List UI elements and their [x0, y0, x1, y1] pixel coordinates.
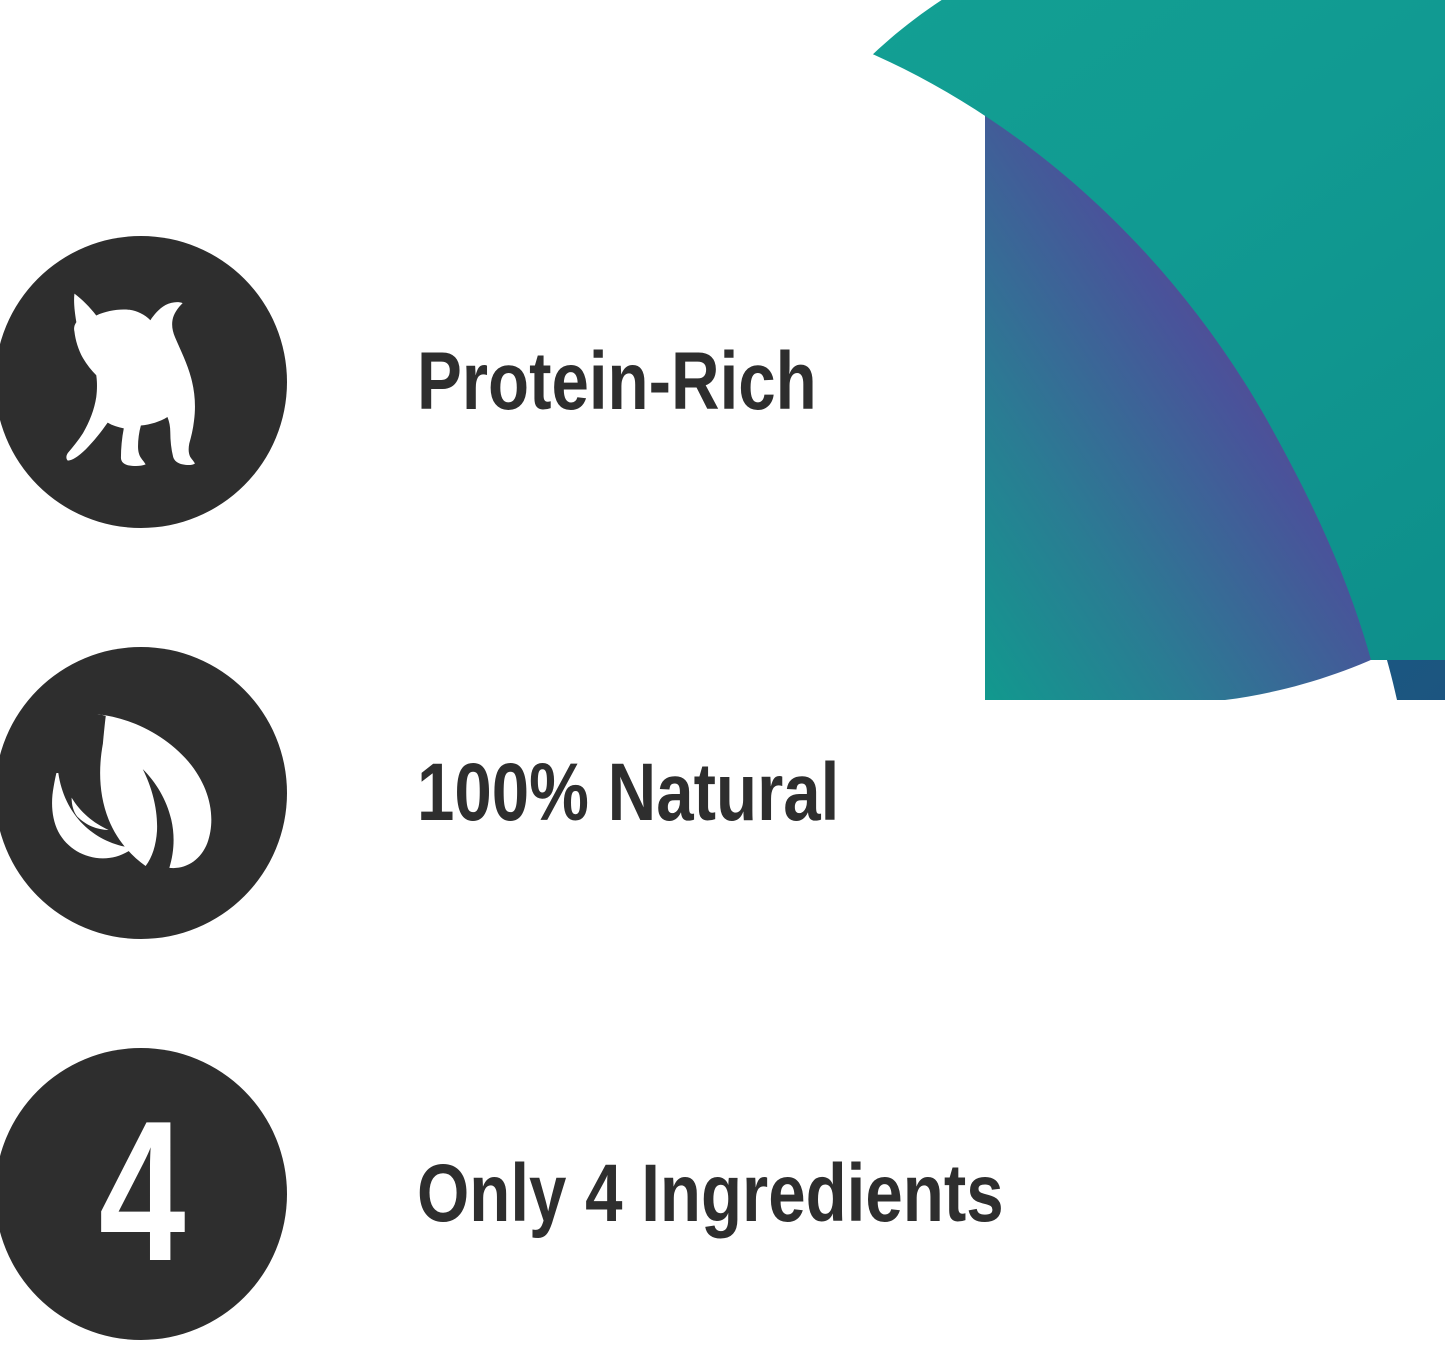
feature-label: Only 4 Ingredients [417, 1153, 1004, 1235]
feature-row: 4 Only 4 Ingredients [0, 1048, 1200, 1340]
number-badge-icon: 4 [0, 1048, 287, 1340]
leaf-icon [27, 679, 255, 907]
feature-row: Protein-Rich [0, 236, 1200, 528]
feature-list: Protein-Rich 100% Natural 4 Only 4 Ingre… [0, 0, 1445, 1360]
cat-icon-badge [0, 236, 287, 528]
leaf-icon-badge [0, 647, 287, 939]
product-feature-panel: Protein-Rich 100% Natural 4 Only 4 Ingre… [0, 0, 1445, 1360]
feature-label: Protein-Rich [417, 341, 817, 423]
feature-label: 100% Natural [417, 752, 839, 834]
cat-icon [27, 268, 255, 496]
feature-row: 100% Natural [0, 647, 1200, 939]
ingredient-count-value: 4 [99, 1092, 183, 1292]
